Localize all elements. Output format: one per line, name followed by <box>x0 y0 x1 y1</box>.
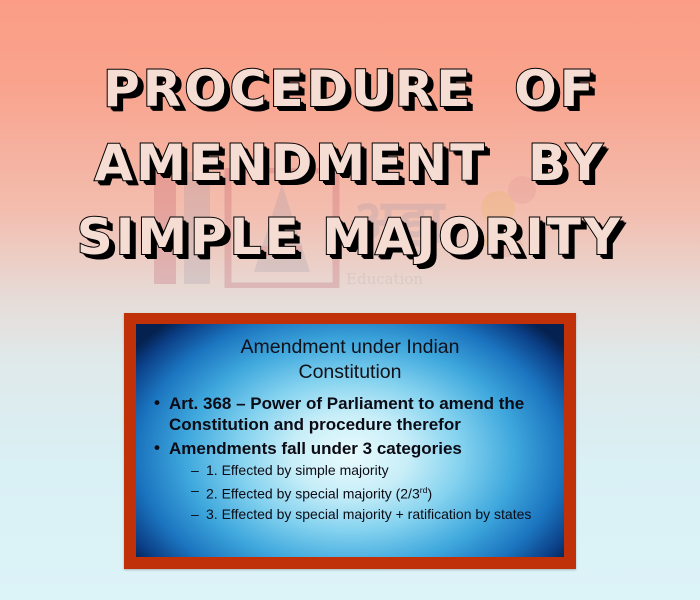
slide-heading-line-1: Amendment under Indian <box>241 336 460 358</box>
bullet-text: Amendments fall under 3 categories <box>169 439 462 458</box>
list-item: • Amendments fall under 3 categories – 1… <box>152 438 554 524</box>
slide-page: अड्डा TM Education PROCEDURE OF AMENDMEN… <box>0 0 700 600</box>
presentation-slide: Amendment under Indian Constitution • Ar… <box>124 313 576 569</box>
title-line-2: AMENDMENT BY <box>0 126 700 200</box>
sub-bullet-glyph: – <box>191 505 199 524</box>
title-line-1: PROCEDURE OF <box>0 52 700 126</box>
sub-bullet-text: 3. Effected by special majority + ratifi… <box>206 506 531 522</box>
slide-content: Amendment under Indian Constitution • Ar… <box>136 324 564 557</box>
title-line-3: SIMPLE MAJORITY <box>0 200 700 274</box>
slide-heading-line-2: Constitution <box>299 361 402 383</box>
slide-heading: Amendment under Indian Constitution <box>146 335 554 385</box>
list-item: • Art. 368 – Power of Parliament to amen… <box>152 393 554 435</box>
sub-bullet-text: 2. Effected by special majority (2/3 <box>206 486 420 502</box>
bullet-glyph: • <box>154 392 160 413</box>
sub-bullet-list: – 1. Effected by simple majority – 2. Ef… <box>191 461 554 524</box>
page-title: PROCEDURE OF AMENDMENT BY SIMPLE MAJORIT… <box>0 52 700 274</box>
sub-bullet-text-end: ) <box>427 486 432 502</box>
sub-bullet-glyph: – <box>191 481 199 500</box>
bullet-list: • Art. 368 – Power of Parliament to amen… <box>152 393 554 524</box>
list-item: – 2. Effected by special majority (2/3rd… <box>191 481 554 504</box>
sub-bullet-text: 1. Effected by simple majority <box>206 462 389 478</box>
list-item: – 1. Effected by simple majority <box>191 461 554 480</box>
list-item: – 3. Effected by special majority + rati… <box>191 505 554 524</box>
bullet-glyph: • <box>154 437 160 458</box>
sub-bullet-glyph: – <box>191 461 199 480</box>
bullet-text: Art. 368 – Power of Parliament to amend … <box>169 394 524 434</box>
